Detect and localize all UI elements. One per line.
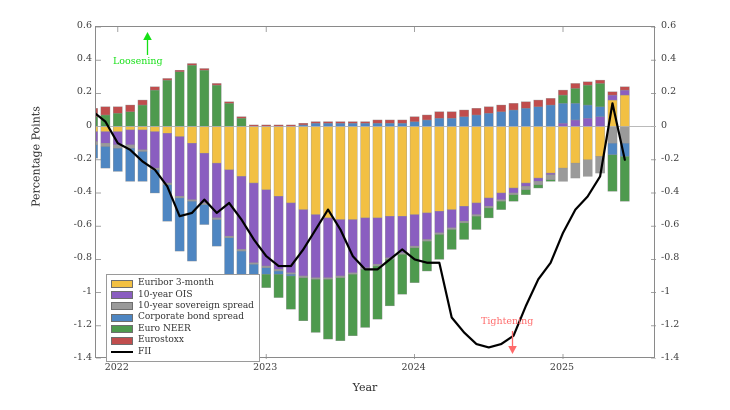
bar-segment-10-year-sovereign-spread [187, 200, 196, 202]
bar-segment-corporate-bond-spread [262, 268, 271, 275]
bar-segment-10-year-ois [509, 188, 518, 193]
bar-segment-euribor-3-month [398, 127, 407, 217]
bar-stack [361, 122, 370, 328]
bar-segment-euribor-3-month [583, 127, 592, 160]
annotation-loosening: Loosening [113, 56, 163, 67]
bar-segment-eurostoxx [521, 102, 530, 109]
bar-segment-10-year-ois [274, 196, 283, 269]
bar-segment-eurostoxx [175, 70, 184, 72]
legend-swatch-eurostoxx [111, 337, 133, 345]
bar-segment-10-year-sovereign-spread [608, 127, 617, 144]
legend-item: FII [111, 346, 254, 357]
bar-segment-euro-neer [410, 248, 419, 283]
bar-segment-10-year-ois [583, 118, 592, 126]
bar-segment-10-year-sovereign-spread [299, 276, 308, 278]
bar-stack [459, 110, 468, 239]
bar-segment-10-year-sovereign-spread [101, 143, 110, 146]
bar-segment-euribor-3-month [150, 127, 159, 132]
bar-segment-euro-neer [385, 259, 394, 305]
y-tick-label-left: -1.4 [32, 353, 92, 363]
legend-swatch-corporate-bond-spread [111, 314, 133, 322]
y-tick-label-left: 0 [32, 121, 92, 131]
bar-segment-10-year-sovereign-spread [447, 228, 456, 230]
bar-segment-euro-neer [150, 90, 159, 127]
bar-stack [348, 122, 357, 336]
bar-segment-euro-neer [534, 185, 543, 188]
bar-segment-eurostoxx [101, 107, 110, 115]
bar-segment-10-year-ois [596, 117, 605, 127]
bar-stack [126, 105, 135, 181]
bar-segment-corporate-bond-spread [497, 112, 506, 127]
legend-label: 10-year sovereign spread [138, 301, 254, 312]
bar-segment-corporate-bond-spread [361, 123, 370, 126]
bar-segment-euro-neer [323, 279, 332, 339]
legend: Euribor 3-month 10-year OIS 10-year sove… [106, 274, 260, 362]
bar-segment-corporate-bond-spread [472, 115, 481, 127]
bar-segment-euribor-3-month [138, 127, 147, 130]
bar-segment-10-year-sovereign-spread [459, 221, 468, 223]
bar-segment-eurostoxx [571, 83, 580, 88]
bar-segment-10-year-ois [546, 173, 555, 175]
bar-segment-10-year-ois [422, 213, 431, 240]
bar-stack [150, 87, 159, 193]
x-axis-label: Year [0, 381, 730, 394]
bar-segment-eurostoxx [200, 69, 209, 71]
bar-segment-euribor-3-month [212, 127, 221, 164]
legend-item: Euribor 3-month [111, 278, 254, 289]
bar-segment-euribor-3-month [286, 127, 295, 203]
bar-segment-10-year-ois [410, 215, 419, 247]
bar-segment-euro-neer [96, 117, 98, 127]
bar-segment-eurostoxx [299, 123, 308, 125]
bar-segment-10-year-sovereign-spread [286, 273, 295, 275]
bar-segment-euro-neer [361, 269, 370, 327]
bar-stack [497, 105, 506, 210]
bar-stack [274, 125, 283, 298]
bar-segment-corporate-bond-spread [558, 103, 567, 123]
legend-label: Euro NEER [138, 324, 191, 335]
bar-stack [385, 120, 394, 306]
bar-segment-10-year-ois [472, 203, 481, 215]
bar-stack [249, 125, 258, 279]
bar-segment-corporate-bond-spread [534, 107, 543, 127]
bar-segment-eurostoxx [509, 103, 518, 110]
bar-segment-10-year-sovereign-spread [274, 269, 283, 271]
bar-segment-10-year-sovereign-spread [336, 276, 345, 278]
bar-segment-euribor-3-month [472, 127, 481, 203]
legend-item: 10-year OIS [111, 289, 254, 300]
bar-segment-euro-neer [274, 274, 283, 297]
bar-segment-10-year-sovereign-spread [175, 196, 184, 198]
legend-swatch-euro-neer [111, 325, 133, 333]
bar-segment-corporate-bond-spread [200, 205, 209, 225]
bar-stack [521, 102, 530, 195]
y-tick-label-right: -1.2 [661, 320, 721, 330]
bar-segment-10-year-ois [534, 178, 543, 181]
legend-swatch-fii [111, 351, 133, 353]
bar-segment-eurostoxx [361, 122, 370, 124]
bar-segment-corporate-bond-spread [96, 145, 98, 158]
y-tick-label-right: 0.4 [661, 54, 721, 64]
bar-stack [509, 103, 518, 201]
bar-segment-10-year-sovereign-spread [435, 233, 444, 235]
bar-segment-corporate-bond-spread [113, 148, 122, 171]
y-tick-label-left: -1 [32, 287, 92, 297]
legend-swatch-10-year-sovereign-spread [111, 302, 133, 310]
bar-segment-euro-neer [546, 180, 555, 182]
bar-segment-corporate-bond-spread [571, 103, 580, 120]
bar-segment-10-year-ois [101, 132, 110, 144]
legend-item: Euro NEER [111, 324, 254, 335]
bar-segment-euro-neer [237, 118, 246, 126]
bar-segment-10-year-sovereign-spread [348, 273, 357, 275]
bar-segment-10-year-sovereign-spread [509, 193, 518, 195]
bar-segment-euribor-3-month [225, 127, 234, 170]
bar-segment-eurostoxx [373, 120, 382, 123]
bar-segment-eurostoxx [187, 64, 196, 66]
bar-segment-euribor-3-month [262, 127, 271, 190]
bar-segment-euro-neer [348, 274, 357, 335]
bar-stack [225, 102, 234, 281]
bar-stack [299, 123, 308, 321]
bar-segment-10-year-sovereign-spread [534, 181, 543, 184]
bar-segment-10-year-ois [138, 130, 147, 150]
bar-segment-10-year-sovereign-spread [212, 218, 221, 220]
bar-segment-euro-neer [398, 254, 407, 294]
bar-segment-10-year-ois [608, 95, 617, 100]
bar-segment-euribor-3-month [299, 127, 308, 210]
bar-segment-corporate-bond-spread [336, 123, 345, 126]
bar-segment-eurostoxx [422, 115, 431, 120]
bar-segment-10-year-sovereign-spread [410, 246, 419, 248]
bar-segment-euro-neer [459, 223, 468, 240]
bar-segment-euro-neer [175, 72, 184, 127]
bar-segment-10-year-sovereign-spread [138, 150, 147, 152]
bar-segment-10-year-ois [459, 206, 468, 221]
bar-segment-euro-neer [163, 80, 172, 126]
y-tick-label-right: 0 [661, 121, 721, 131]
bar-stack [583, 82, 592, 177]
bar-segment-corporate-bond-spread [398, 123, 407, 126]
bar-segment-10-year-sovereign-spread [225, 236, 234, 238]
x-tick-label: 2022 [87, 362, 147, 373]
bar-segment-corporate-bond-spread [410, 122, 419, 127]
bar-segment-10-year-ois [361, 218, 370, 268]
bar-segment-10-year-ois [175, 137, 184, 197]
bar-segment-eurostoxx [447, 112, 456, 119]
bar-segment-corporate-bond-spread [546, 105, 555, 127]
bar-segment-10-year-sovereign-spread [472, 215, 481, 217]
bar-segment-euro-neer [262, 274, 271, 287]
bar-segment-euribor-3-month [323, 127, 332, 218]
bar-segment-10-year-ois [497, 193, 506, 200]
bar-segment-10-year-ois [150, 132, 159, 169]
bar-segment-eurostoxx [237, 117, 246, 119]
bar-segment-10-year-ois [521, 183, 530, 186]
bar-segment-10-year-ois [200, 153, 209, 203]
bar-stack [311, 122, 320, 333]
bar-segment-corporate-bond-spread [101, 147, 110, 169]
bar-segment-euro-neer [138, 105, 147, 127]
legend-item: Eurostoxx [111, 335, 254, 346]
bar-segment-euribor-3-month [571, 127, 580, 164]
bar-segment-corporate-bond-spread [596, 107, 605, 117]
bar-segment-10-year-ois [249, 183, 258, 263]
bar-stack [187, 64, 196, 262]
bar-segment-euro-neer [558, 95, 567, 103]
bar-segment-euribor-3-month [435, 127, 444, 212]
bar-stack [534, 100, 543, 188]
bar-segment-10-year-ois [237, 176, 246, 249]
bar-segment-10-year-ois [398, 216, 407, 253]
y-tick-label-right: -0.4 [661, 187, 721, 197]
bar-segment-corporate-bond-spread [385, 123, 394, 126]
bar-stack [558, 90, 567, 181]
bar-segment-eurostoxx [398, 120, 407, 123]
y-tick-label-left: 0.2 [32, 87, 92, 97]
y-tick-label-left: -0.2 [32, 154, 92, 164]
bar-segment-10-year-sovereign-spread [96, 142, 98, 145]
legend-label: 10-year OIS [138, 290, 193, 301]
bar-stack [435, 112, 444, 260]
bar-segment-corporate-bond-spread [311, 123, 320, 126]
bar-segment-10-year-sovereign-spread [583, 160, 592, 177]
x-tick-label: 2024 [384, 362, 444, 373]
bar-segment-corporate-bond-spread [163, 185, 172, 222]
bar-segment-euro-neer [286, 276, 295, 309]
y-tick-label-right: 0.6 [661, 21, 721, 31]
bar-stack [286, 125, 295, 309]
bar-segment-euribor-3-month [447, 127, 456, 210]
legend-label: FII [138, 347, 151, 358]
y-tick-label-left: -1.2 [32, 320, 92, 330]
bar-segment-eurostoxx [534, 100, 543, 107]
bar-segment-euribor-3-month [126, 127, 135, 130]
bar-segment-10-year-ois [96, 132, 98, 142]
bar-stack [323, 122, 332, 339]
bar-stack [101, 107, 110, 168]
y-tick-label-right: -1 [661, 287, 721, 297]
bar-segment-eurostoxx [126, 105, 135, 112]
bar-segment-euribor-3-month [546, 127, 555, 173]
bar-segment-euro-neer [299, 278, 308, 321]
bar-segment-eurostoxx [348, 122, 357, 124]
bar-segment-euribor-3-month [497, 127, 506, 193]
bar-segment-euribor-3-month [187, 127, 196, 144]
bar-segment-eurostoxx [596, 80, 605, 83]
bar-segment-10-year-ois [163, 133, 172, 183]
bar-stack [447, 112, 456, 250]
bar-segment-euro-neer [521, 190, 530, 195]
bar-segment-10-year-sovereign-spread [237, 249, 246, 251]
legend-label: Corporate bond spread [138, 312, 244, 323]
bar-stack [237, 117, 246, 285]
bar-segment-euro-neer [447, 230, 456, 250]
bar-segment-10-year-ois [620, 90, 629, 95]
bar-segment-corporate-bond-spread [459, 117, 468, 127]
bar-segment-euribor-3-month [163, 127, 172, 134]
bar-segment-10-year-ois [447, 210, 456, 228]
legend-swatch-10-year-ois [111, 291, 133, 299]
bar-segment-corporate-bond-spread [583, 105, 592, 118]
bar-segment-eurostoxx [620, 87, 629, 90]
bar-segment-corporate-bond-spread [509, 110, 518, 127]
legend-item: Corporate bond spread [111, 312, 254, 323]
figure-root: Percentage Points Loosening Tightening E… [0, 0, 730, 410]
bar-segment-euro-neer [126, 112, 135, 127]
bar-stack [484, 107, 493, 218]
bar-segment-euribor-3-month [200, 127, 209, 154]
y-tick-label-left: 0.4 [32, 54, 92, 64]
bar-segment-10-year-ois [571, 120, 580, 127]
bar-segment-10-year-ois [373, 218, 382, 264]
bar-segment-corporate-bond-spread [286, 274, 295, 276]
bar-stack [262, 125, 271, 288]
bar-segment-eurostoxx [484, 107, 493, 114]
y-tick-label-right: -0.8 [661, 253, 721, 263]
bar-stack [571, 83, 580, 178]
bar-segment-euribor-3-month [509, 127, 518, 188]
bar-segment-eurostoxx [336, 122, 345, 124]
bar-segment-euro-neer [583, 85, 592, 105]
bar-segment-euribor-3-month [373, 127, 382, 218]
bar-segment-euro-neer [373, 266, 382, 319]
bar-segment-10-year-sovereign-spread [311, 278, 320, 280]
up-arrow-icon [142, 32, 153, 56]
bar-segment-eurostoxx [150, 87, 159, 90]
bar-segment-euro-neer [608, 155, 617, 192]
bar-segment-euro-neer [336, 278, 345, 341]
bar-segment-euribor-3-month [521, 127, 530, 183]
bar-segment-euribor-3-month [274, 127, 283, 197]
bar-segment-eurostoxx [546, 98, 555, 105]
bar-segment-euro-neer [200, 70, 209, 126]
bar-segment-euribor-3-month [385, 127, 394, 217]
bar-segment-euro-neer [311, 279, 320, 332]
bar-segment-10-year-ois [435, 211, 444, 233]
bar-segment-corporate-bond-spread [138, 152, 147, 182]
bar-segment-euribor-3-month [249, 127, 258, 183]
bar-segment-eurostoxx [472, 108, 481, 115]
bar-segment-eurostoxx [323, 122, 332, 124]
bar-segment-corporate-bond-spread [521, 108, 530, 126]
bar-segment-euro-neer [620, 156, 629, 201]
bar-segment-euro-neer [596, 83, 605, 106]
y-tick-label-left: -0.6 [32, 220, 92, 230]
bar-segment-euribor-3-month [113, 127, 122, 132]
bar-segment-10-year-sovereign-spread [249, 263, 258, 265]
bar-segment-euro-neer [571, 88, 580, 103]
y-tick-label-right: -0.6 [661, 220, 721, 230]
bar-segment-euribor-3-month [348, 127, 357, 220]
bar-segment-10-year-ois [323, 218, 332, 278]
bar-segment-corporate-bond-spread [447, 118, 456, 126]
bar-segment-euribor-3-month [620, 95, 629, 127]
bar-segment-10-year-sovereign-spread [546, 175, 555, 180]
y-tick-label-right: -0.2 [661, 154, 721, 164]
bar-segment-corporate-bond-spread [348, 123, 357, 126]
bar-stack [138, 100, 147, 181]
bar-segment-eurostoxx [225, 102, 234, 104]
bar-segment-corporate-bond-spread [422, 120, 431, 127]
bar-segment-eurostoxx [311, 122, 320, 124]
legend-item: 10-year sovereign spread [111, 301, 254, 312]
y-tick-label-left: -0.8 [32, 253, 92, 263]
bar-segment-eurostoxx [558, 90, 567, 95]
bar-segment-10-year-ois [126, 130, 135, 145]
bar-segment-eurostoxx [163, 78, 172, 80]
bar-segment-eurostoxx [385, 120, 394, 123]
bar-segment-euro-neer [472, 216, 481, 229]
bar-segment-eurostoxx [138, 100, 147, 105]
bar-segment-10-year-sovereign-spread [323, 278, 332, 280]
bar-segment-corporate-bond-spread [323, 123, 332, 126]
bar-segment-eurostoxx [608, 92, 617, 95]
bar-segment-corporate-bond-spread [274, 271, 283, 274]
bar-segment-euribor-3-month [558, 127, 567, 169]
x-tick-label: 2025 [532, 362, 592, 373]
bar-segment-corporate-bond-spread [608, 143, 617, 155]
bar-segment-10-year-ois [348, 220, 357, 273]
bar-segment-euribor-3-month [459, 127, 468, 207]
bar-segment-euro-neer [187, 65, 196, 126]
bar-segment-corporate-bond-spread [373, 123, 382, 126]
bar-segment-euro-neer [422, 241, 431, 271]
bar-segment-eurostoxx [459, 110, 468, 117]
bar-segment-euro-neer [497, 201, 506, 209]
y-tick-label-right: 0.2 [661, 87, 721, 97]
legend-swatch-euribor-3-month [111, 280, 133, 288]
bar-segment-eurostoxx [435, 112, 444, 119]
bar-segment-eurostoxx [497, 105, 506, 112]
bar-stack [175, 70, 184, 251]
bar-segment-eurostoxx [410, 117, 419, 122]
bar-stack [422, 115, 431, 271]
y-tick-label-left: -0.4 [32, 187, 92, 197]
bar-segment-10-year-sovereign-spread [497, 200, 506, 202]
bar-segment-10-year-ois [558, 123, 567, 126]
bar-stack [546, 98, 555, 181]
bar-segment-euribor-3-month [237, 127, 246, 177]
bar-segment-euro-neer [212, 85, 221, 127]
bar-segment-corporate-bond-spread [435, 118, 444, 126]
bar-segment-10-year-ois [385, 216, 394, 257]
bar-segment-corporate-bond-spread [212, 220, 221, 247]
y-tick-label-left: 0.6 [32, 21, 92, 31]
bar-segment-eurostoxx [212, 83, 221, 85]
x-tick-label: 2023 [235, 362, 295, 373]
bar-segment-euro-neer [484, 208, 493, 218]
bar-segment-euro-neer [435, 235, 444, 260]
down-arrow-icon [507, 330, 518, 354]
bar-segment-euribor-3-month [96, 127, 98, 132]
bar-segment-euribor-3-month [175, 127, 184, 137]
bar-segment-euribor-3-month [361, 127, 370, 218]
bar-segment-euribor-3-month [422, 127, 431, 213]
bar-segment-10-year-ois [484, 198, 493, 206]
bar-segment-euro-neer [509, 195, 518, 202]
bar-segment-euribor-3-month [484, 127, 493, 198]
bar-stack [212, 83, 221, 246]
bar-segment-euribor-3-month [311, 127, 320, 215]
bar-segment-10-year-sovereign-spread [262, 266, 271, 268]
bar-segment-10-year-sovereign-spread [484, 206, 493, 208]
bar-segment-eurostoxx [113, 107, 122, 114]
legend-label: Eurostoxx [138, 335, 184, 346]
bar-segment-10-year-sovereign-spread [422, 239, 431, 241]
bar-segment-eurostoxx [583, 82, 592, 85]
legend-label: Euribor 3-month [138, 278, 214, 289]
